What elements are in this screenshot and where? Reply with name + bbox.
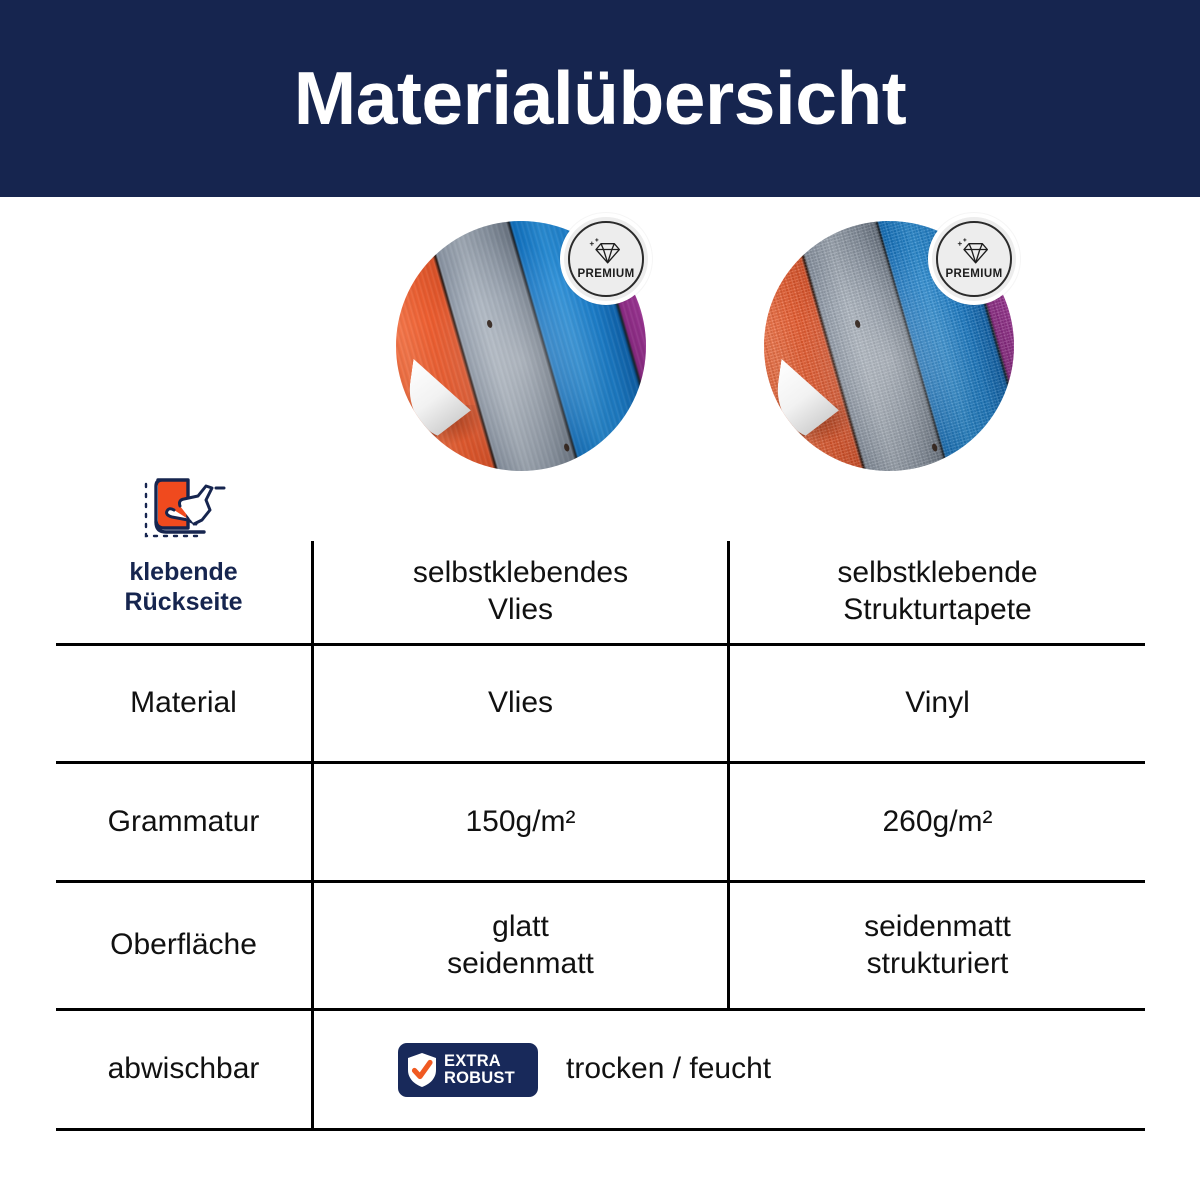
abwischbar-value-text: trocken / feucht: [566, 1051, 771, 1088]
table-cell-header-strukturtapete: selbstklebende Strukturtapete: [727, 541, 1145, 643]
header-struktur-line1: selbstklebende: [837, 555, 1037, 592]
table-cell-material-vinyl: Vinyl: [727, 646, 1145, 761]
premium-badge-1: PREMIUM: [560, 213, 652, 305]
peeling-sticker-hand-icon: [136, 470, 232, 550]
table-cell-header-label: [56, 541, 311, 643]
premium-badge-label-2: PREMIUM: [945, 269, 1002, 281]
table-cell-oberflaeche-vlies: glatt seidenmatt: [311, 883, 727, 1008]
table-cell-grammatur-vlies: 150g/m²: [311, 764, 727, 880]
table-row-abwischbar: abwischbar EXTRA ROBUST trocken / feucht: [56, 1011, 1145, 1131]
extra-robust-badge: EXTRA ROBUST: [398, 1043, 538, 1097]
extra-robust-badge-text: EXTRA ROBUST: [444, 1053, 515, 1087]
premium-badge-inner-2: PREMIUM: [936, 221, 1012, 297]
header-vlies-line2: Vlies: [413, 592, 628, 629]
header-struktur-line2: Strukturtapete: [837, 592, 1037, 629]
product-preview-strukturtapete: PREMIUM: [758, 213, 1020, 475]
shield-check-icon: [405, 1051, 439, 1089]
diamond-icon: [954, 237, 994, 267]
extra-robust-line1: EXTRA: [444, 1053, 515, 1070]
table-cell-label-oberflaeche: Oberfläche: [56, 883, 311, 1008]
table-cell-label-material: Material: [56, 646, 311, 761]
material-spec-table: selbstklebendes Vlies selbstklebende Str…: [56, 541, 1145, 1131]
page-title: Materialübersicht: [294, 61, 907, 136]
product-preview-vlies: PREMIUM: [390, 213, 652, 475]
table-cell-header-vlies: selbstklebendes Vlies: [311, 541, 727, 643]
premium-badge-label-1: PREMIUM: [577, 269, 634, 281]
oberflaeche-vlies-line1: glatt: [447, 909, 594, 946]
premium-badge-inner-1: PREMIUM: [568, 221, 644, 297]
table-cell-grammatur-vinyl: 260g/m²: [727, 764, 1145, 880]
table-cell-oberflaeche-vinyl: seidenmatt strukturiert: [727, 883, 1145, 1008]
table-cell-abwischbar-value: EXTRA ROBUST trocken / feucht: [311, 1011, 1145, 1128]
table-cell-label-abwischbar: abwischbar: [56, 1011, 311, 1128]
header-vlies-line1: selbstklebendes: [413, 555, 628, 592]
table-row-header: selbstklebendes Vlies selbstklebende Str…: [56, 541, 1145, 646]
table-row-oberflaeche: Oberfläche glatt seidenmatt seidenmatt s…: [56, 883, 1145, 1011]
page-header: Materialübersicht: [0, 0, 1200, 197]
material-overview-page: Materialübersicht: [0, 0, 1200, 1200]
table-row-grammatur: Grammatur 150g/m² 260g/m²: [56, 764, 1145, 883]
table-cell-label-grammatur: Grammatur: [56, 764, 311, 880]
table-row-material: Material Vlies Vinyl: [56, 646, 1145, 764]
extra-robust-line2: ROBUST: [444, 1070, 515, 1087]
oberflaeche-vlies-line2: seidenmatt: [447, 946, 594, 983]
diamond-icon: [586, 237, 626, 267]
oberflaeche-vinyl-line2: strukturiert: [864, 946, 1011, 983]
oberflaeche-vinyl-line1: seidenmatt: [864, 909, 1011, 946]
premium-badge-2: PREMIUM: [928, 213, 1020, 305]
table-cell-material-vlies: Vlies: [311, 646, 727, 761]
